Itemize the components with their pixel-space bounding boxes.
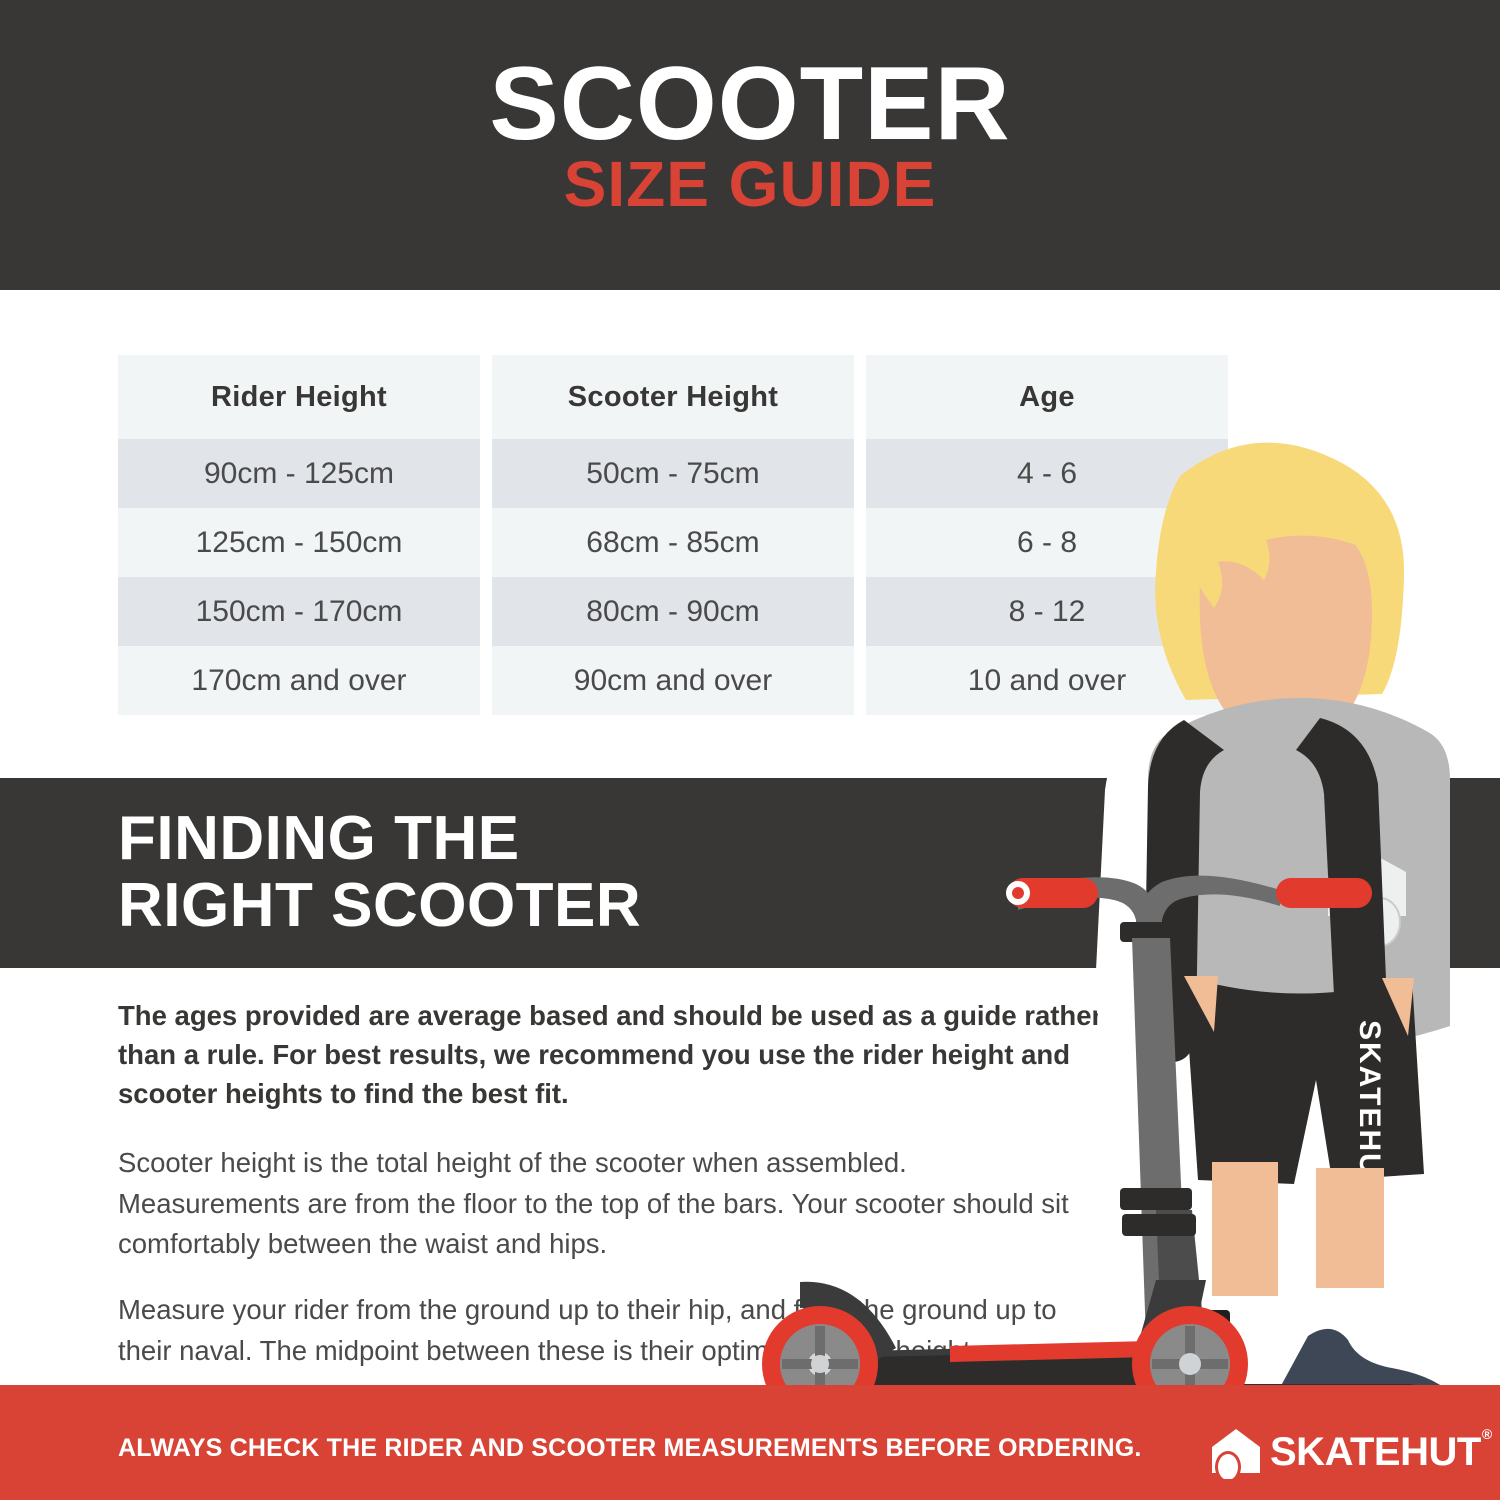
finding-section-title: FINDING THE RIGHT SCOOTER: [118, 806, 641, 940]
hut-icon: [1208, 1425, 1264, 1479]
table-column-rider-height: Rider Height 90cm - 125cm 125cm - 150cm …: [118, 355, 480, 715]
page-title: SCOOTER: [0, 52, 1500, 156]
table-cell: 150cm - 170cm: [118, 577, 480, 646]
paragraph-measure: Measure your rider from the ground up to…: [118, 1290, 1078, 1371]
table-cell: 6 - 8: [866, 508, 1228, 577]
table-column-scooter-height: Scooter Height 50cm - 75cm 68cm - 85cm 8…: [492, 355, 854, 715]
table-column-age: Age 4 - 6 6 - 8 8 - 12 10 and over: [866, 355, 1228, 715]
table-cell: 68cm - 85cm: [492, 508, 854, 577]
paragraph-intro: The ages provided are average based and …: [118, 996, 1108, 1113]
skatehut-wordmark: SKATEHUT: [1270, 1432, 1481, 1472]
table-cell: 10 and over: [866, 646, 1228, 715]
registered-mark: ®: [1482, 1426, 1492, 1442]
column-header-rider-height: Rider Height: [118, 355, 480, 439]
column-header-scooter-height: Scooter Height: [492, 355, 854, 439]
table-cell: 80cm - 90cm: [492, 577, 854, 646]
table-cell: 8 - 12: [866, 577, 1228, 646]
footer-notice: ALWAYS CHECK THE RIDER AND SCOOTER MEASU…: [118, 1434, 1142, 1463]
shorts-brand-text: SKATEHUT: [1353, 1020, 1386, 1197]
paragraph-scooter-height: Scooter height is the total height of th…: [118, 1143, 1078, 1264]
table-cell: 50cm - 75cm: [492, 439, 854, 508]
table-cell: 170cm and over: [118, 646, 480, 715]
column-header-age: Age: [866, 355, 1228, 439]
body-copy: The ages provided are average based and …: [118, 996, 1118, 1397]
table-cell: 90cm and over: [492, 646, 854, 715]
table-cell: 90cm - 125cm: [118, 439, 480, 508]
page-subtitle: SIZE GUIDE: [0, 152, 1500, 216]
table-cell: 4 - 6: [866, 439, 1228, 508]
skatehut-logo[interactable]: SKATEHUT ®: [1208, 1425, 1491, 1479]
size-table: Rider Height 90cm - 125cm 125cm - 150cm …: [118, 355, 1228, 715]
table-cell: 125cm - 150cm: [118, 508, 480, 577]
